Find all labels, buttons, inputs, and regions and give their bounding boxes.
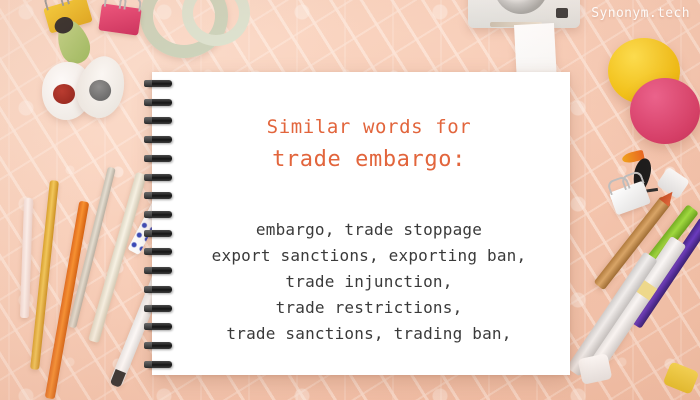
page-title-line1: Similar words for: [198, 116, 540, 140]
notepad: Similar words for trade embargo: embargo…: [152, 72, 570, 375]
synonym-list: embargo, trade stoppage export sanctions…: [198, 217, 540, 347]
site-watermark: Synonym.tech: [591, 6, 690, 21]
notepad-content: Similar words for trade embargo: embargo…: [152, 72, 570, 375]
page-title-line2: trade embargo:: [198, 146, 540, 174]
synonym-line: trade sanctions, trading ban,: [198, 321, 540, 347]
screenshot-canvas: Similar words for trade embargo: embargo…: [0, 0, 700, 400]
synonym-line: trade injunction,: [198, 269, 540, 295]
synonym-line: export sanctions, exporting ban,: [198, 243, 540, 269]
synonym-line: trade restrictions,: [198, 295, 540, 321]
synonym-line: embargo, trade stoppage: [198, 217, 540, 243]
